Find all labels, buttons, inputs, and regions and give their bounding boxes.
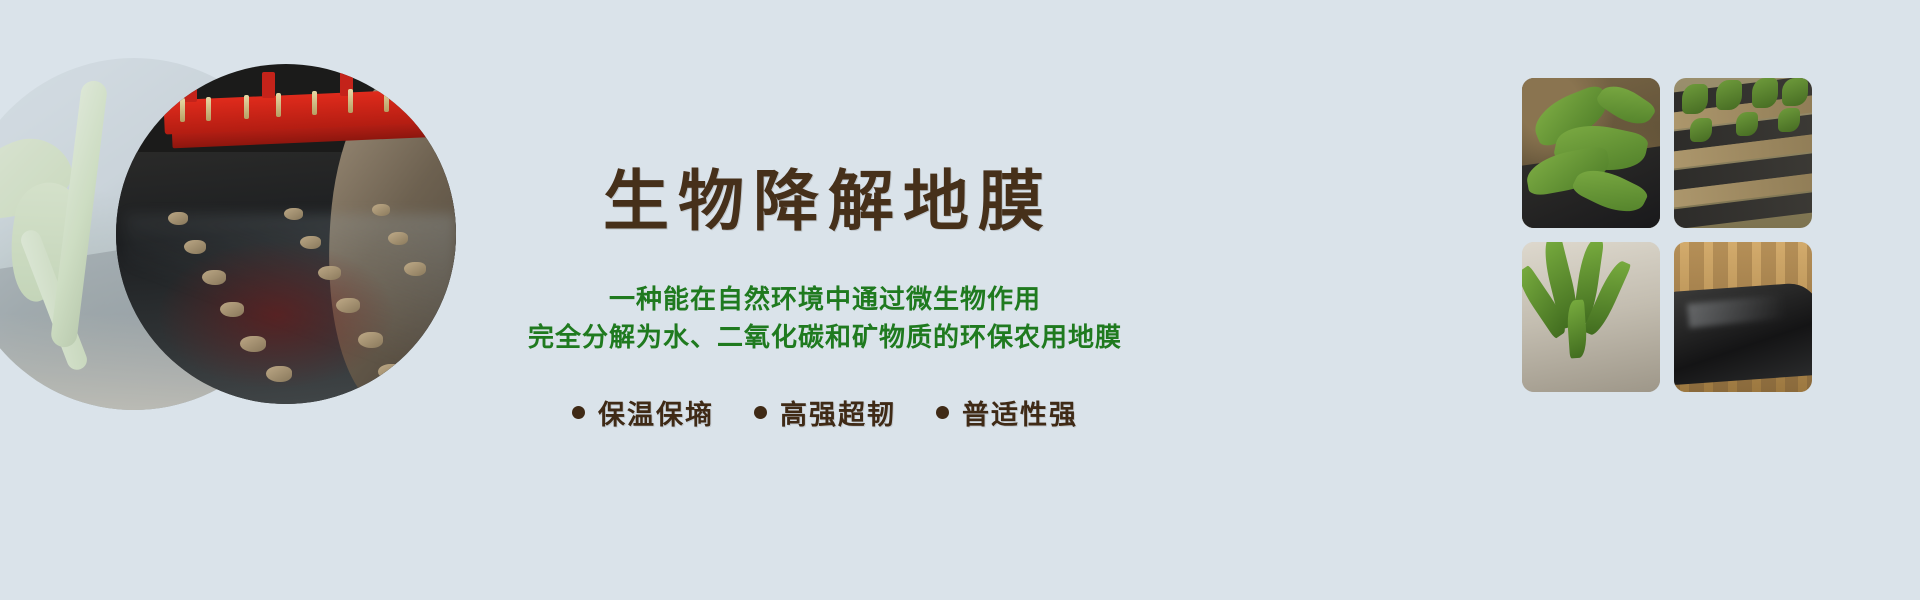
soil-clod bbox=[336, 298, 360, 313]
soil-clod bbox=[388, 232, 408, 245]
feature-item-1: 保温保墒 bbox=[572, 393, 714, 432]
tobacco-on-black-film bbox=[1522, 78, 1660, 228]
machine-clip bbox=[244, 95, 249, 119]
machinery-photo-circle bbox=[116, 64, 456, 404]
soil-clod bbox=[184, 240, 206, 254]
bullet-dot-icon bbox=[572, 406, 585, 419]
machine-clip bbox=[348, 89, 353, 113]
left-photo-cluster bbox=[0, 0, 470, 600]
soil-clod bbox=[300, 236, 321, 249]
photo-grid bbox=[1522, 78, 1812, 400]
machine-post bbox=[184, 76, 197, 102]
crop-shape bbox=[1682, 84, 1708, 114]
bullet-dot-icon bbox=[936, 406, 949, 419]
soil-clod bbox=[284, 208, 303, 220]
soil-clod bbox=[378, 364, 404, 380]
machine-clip bbox=[384, 88, 389, 112]
machine-clip bbox=[180, 98, 185, 122]
crop-shape bbox=[1782, 78, 1808, 106]
crop-shape bbox=[1736, 112, 1758, 136]
machine-clip bbox=[312, 91, 317, 115]
page-title: 生物降解地膜 bbox=[603, 168, 1053, 234]
field-rows-mulched bbox=[1674, 78, 1812, 228]
seedling-in-white-film bbox=[1522, 242, 1660, 392]
subtitle-line-1: 一种能在自然环境中通过微生物作用 bbox=[528, 282, 1122, 320]
machine-clip bbox=[416, 86, 421, 110]
soil-clod bbox=[266, 366, 292, 382]
machine-clip bbox=[276, 93, 281, 117]
bullet-dot-icon bbox=[754, 406, 767, 419]
soil-clod bbox=[358, 332, 383, 348]
subtitle-line-2: 完全分解为水、二氧化碳和矿物质的环保农用地膜 bbox=[528, 320, 1122, 358]
crop-shape bbox=[1778, 108, 1800, 132]
soil-clod bbox=[372, 204, 390, 216]
feature-list: 保温保墒 高强超韧 普适性强 bbox=[572, 393, 1078, 432]
banner-text-block: 生物降解地膜 一种能在自然环境中通过微生物作用 完全分解为水、二氧化碳和矿物质的… bbox=[430, 0, 1220, 600]
feature-item-2: 高强超韧 bbox=[754, 393, 896, 432]
soil-clod bbox=[318, 266, 341, 280]
black-film-roll bbox=[1674, 242, 1812, 392]
soil-clod bbox=[220, 302, 244, 317]
feature-label: 高强超韧 bbox=[780, 393, 896, 432]
feature-label: 普适性强 bbox=[962, 393, 1078, 432]
soil-clod bbox=[404, 262, 426, 276]
crop-shape bbox=[1716, 80, 1742, 110]
machine-clip bbox=[206, 97, 211, 121]
crop-shape bbox=[1690, 118, 1712, 142]
promo-banner: 生物降解地膜 一种能在自然环境中通过微生物作用 完全分解为水、二氧化碳和矿物质的… bbox=[0, 0, 1920, 600]
banner-subtitle: 一种能在自然环境中通过微生物作用 完全分解为水、二氧化碳和矿物质的环保农用地膜 bbox=[528, 282, 1122, 358]
soil-clod bbox=[168, 212, 188, 225]
crop-shape bbox=[1752, 78, 1778, 108]
feature-label: 保温保墒 bbox=[598, 393, 714, 432]
soil-clod bbox=[240, 336, 266, 352]
feature-item-3: 普适性强 bbox=[936, 393, 1078, 432]
soil-clod bbox=[202, 270, 226, 285]
machine-post bbox=[262, 72, 275, 98]
